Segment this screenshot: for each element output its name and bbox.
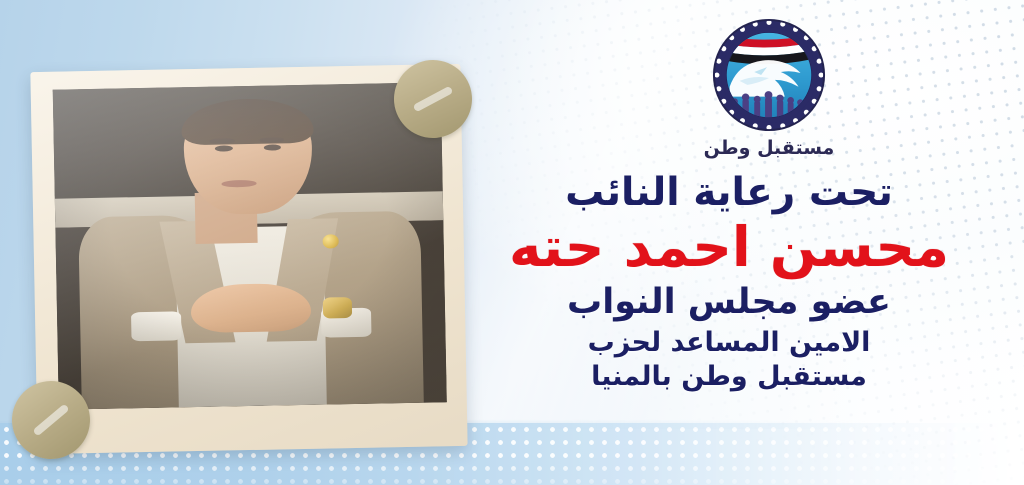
portrait-photo: [53, 82, 447, 409]
photo-vignette: [53, 82, 447, 409]
portrait-illustration: [53, 82, 447, 409]
representative-name: محسن احمد حته: [464, 218, 994, 277]
headline-text-block: تحت رعاية النائب محسن احمد حته عضو مجلس …: [464, 172, 994, 392]
party-emblem-icon: [710, 16, 828, 134]
campaign-banner: مستقبل وطن تحت رعاية النائب محسن احمد حت…: [0, 0, 1024, 485]
party-name-caption: مستقبل وطن: [702, 137, 836, 159]
party-title-line-2: مستقبل وطن بالمنيا: [464, 362, 994, 391]
representative-role: عضو مجلس النواب: [464, 284, 994, 322]
party-title-line-1: الامين المساعد لحزب: [464, 328, 994, 357]
party-logo: مستقبل وطن: [702, 16, 836, 159]
patronage-line: تحت رعاية النائب: [464, 172, 994, 214]
